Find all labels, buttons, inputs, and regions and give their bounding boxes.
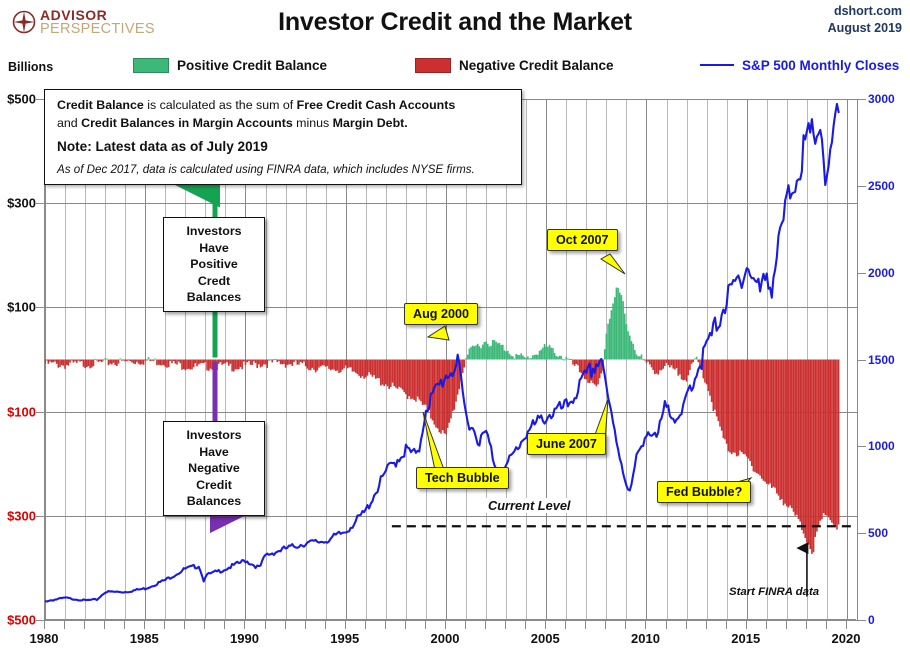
finra-methodology-note: As of Dec 2017, data is calculated using… xyxy=(57,163,511,176)
x-axis-tick xyxy=(786,620,787,629)
legend-swatch-negative xyxy=(415,58,451,73)
y-axis-left-tick-label: $100 xyxy=(7,300,36,315)
x-axis-tick-label: 2010 xyxy=(631,631,660,646)
x-axis-tick xyxy=(164,620,165,629)
x-axis-tick xyxy=(746,620,747,629)
x-axis-tick-label: 2020 xyxy=(832,631,861,646)
x-axis-tick xyxy=(686,620,687,629)
y-axis-left-tick-label: $300 xyxy=(7,196,36,211)
x-axis-tick xyxy=(565,620,566,629)
negative-box-line-2: Negative xyxy=(173,460,255,477)
y-axis-right-tick-label: 1000 xyxy=(868,439,895,453)
x-axis-tick-label: 2005 xyxy=(531,631,560,646)
negative-box-line-3: Credit Balances xyxy=(173,477,255,510)
note-text-3: minus xyxy=(293,116,333,130)
legend-swatch-sp500-line xyxy=(700,64,734,66)
term-margin-debt: Margin Debt. xyxy=(333,116,408,130)
callout-aug-2000: Aug 2000 xyxy=(404,303,478,325)
x-axis: 198019851990199520002005201020152020 xyxy=(44,619,856,659)
legend-swatch-positive xyxy=(133,58,169,73)
x-axis-tick xyxy=(505,620,506,629)
legend-label-sp500: S&P 500 Monthly Closes xyxy=(742,58,899,73)
x-axis-tick xyxy=(265,620,266,629)
x-axis-tick xyxy=(645,620,646,629)
x-axis-tick xyxy=(605,620,606,629)
x-axis-tick xyxy=(325,620,326,629)
negative-box-line-1: Investors Have xyxy=(173,427,255,460)
x-axis-tick xyxy=(545,620,546,629)
x-axis-tick xyxy=(525,620,526,629)
methodology-line-2: and Credit Balances in Margin Accounts m… xyxy=(57,115,511,133)
x-axis-tick-label: 1980 xyxy=(30,631,59,646)
legend-item-negative-credit-balance: Negative Credit Balance xyxy=(415,55,614,75)
x-axis-tick xyxy=(44,620,45,629)
tick-mark-right xyxy=(857,99,866,100)
x-axis-tick xyxy=(64,620,65,629)
tick-mark-right xyxy=(857,186,866,187)
x-axis-tick xyxy=(244,620,245,629)
y-axis-left-tick-label: $100 xyxy=(7,404,36,419)
x-axis-tick xyxy=(144,620,145,629)
x-axis-tick xyxy=(666,620,667,629)
note-text-1: is calculated as the sum of xyxy=(144,98,297,112)
x-axis-tick xyxy=(465,620,466,629)
y-axis-right-tick-label: 2000 xyxy=(868,266,895,280)
latest-data-note: Note: Latest data as of July 2019 xyxy=(57,139,511,154)
legend-item-sp500: S&P 500 Monthly Closes xyxy=(700,55,899,75)
x-axis-tick xyxy=(846,620,847,629)
x-axis-tick xyxy=(405,620,406,629)
y-axis-left-tick-label: $300 xyxy=(7,508,36,523)
x-axis-tick xyxy=(224,620,225,629)
tick-mark-left xyxy=(36,203,45,204)
term-free-credit-cash: Free Credit Cash Accounts xyxy=(297,98,456,112)
chart-legend: Positive Credit Balance Negative Credit … xyxy=(0,55,910,77)
positive-box-line-3: Credt Balances xyxy=(173,273,255,306)
x-axis-tick xyxy=(485,620,486,629)
y-axis-right-tick-label: 0 xyxy=(868,613,875,627)
x-axis-tick xyxy=(285,620,286,629)
x-axis-tick xyxy=(204,620,205,629)
x-axis-tick xyxy=(365,620,366,629)
tick-mark-right xyxy=(857,446,866,447)
positive-box-line-2: Positive xyxy=(173,256,255,273)
x-axis-tick xyxy=(826,620,827,629)
source-attribution: dshort.com August 2019 xyxy=(828,3,902,37)
methodology-line-1: Credit Balance is calculated as the sum … xyxy=(57,97,511,115)
x-axis-tick xyxy=(766,620,767,629)
callout-tail-aug-2000 xyxy=(428,326,449,340)
start-finra-data-label: Start FINRA data xyxy=(729,586,819,598)
x-axis-tick xyxy=(385,620,386,629)
x-axis-tick xyxy=(345,620,346,629)
x-axis-tick xyxy=(445,620,446,629)
x-axis-tick-label: 1995 xyxy=(330,631,359,646)
tick-mark-left xyxy=(36,516,45,517)
x-axis-tick-label: 2015 xyxy=(731,631,760,646)
x-axis-tick xyxy=(585,620,586,629)
legend-label-negative: Negative Credit Balance xyxy=(459,58,614,73)
x-axis-tick xyxy=(726,620,727,629)
tick-mark-right xyxy=(857,360,866,361)
chart-title: Investor Credit and the Market xyxy=(0,8,910,37)
x-axis-tick-label: 2000 xyxy=(431,631,460,646)
y-axis-right-tick-label: 500 xyxy=(868,526,888,540)
annotation-positive-balances-box: Investors Have Positive Credt Balances xyxy=(163,217,265,312)
positive-box-line-1: Investors Have xyxy=(173,223,255,256)
x-axis-tick xyxy=(706,620,707,629)
x-axis-tick xyxy=(184,620,185,629)
x-axis-tick xyxy=(124,620,125,629)
source-website: dshort.com xyxy=(828,3,902,20)
annotation-negative-balances-box: Investors Have Negative Credit Balances xyxy=(163,421,265,516)
term-credit-balance: Credit Balance xyxy=(57,98,144,112)
legend-item-positive-credit-balance: Positive Credit Balance xyxy=(133,55,327,75)
y-axis-left-tick-label: $500 xyxy=(7,613,36,628)
legend-label-positive: Positive Credit Balance xyxy=(177,58,327,73)
callout-fed-bubble: Fed Bubble? xyxy=(657,481,751,503)
y-axis-right-tick-label: 1500 xyxy=(868,353,895,367)
chart-page: ADVISOR PERSPECTIVES Investor Credit and… xyxy=(0,0,910,661)
tick-mark-left xyxy=(36,307,45,308)
callout-oct-2007: Oct 2007 xyxy=(547,229,618,251)
x-axis-tick-label: 1990 xyxy=(230,631,259,646)
x-axis-tick xyxy=(806,620,807,629)
term-credit-balances-margin: Credit Balances in Margin Accounts xyxy=(81,116,293,130)
tick-mark-right xyxy=(857,620,866,621)
callout-tail-oct-2007 xyxy=(601,254,625,274)
x-axis-tick xyxy=(104,620,105,629)
x-axis-tick xyxy=(625,620,626,629)
note-text-2: and xyxy=(57,116,81,130)
tick-mark-left xyxy=(36,412,45,413)
source-date: August 2019 xyxy=(828,20,902,37)
y-axis-left-tick-label: $500 xyxy=(7,92,36,107)
y-axis-right-tick-label: 2500 xyxy=(868,179,895,193)
x-axis-tick xyxy=(425,620,426,629)
methodology-note-box: Credit Balance is calculated as the sum … xyxy=(44,89,522,185)
x-axis-tick xyxy=(84,620,85,629)
x-axis-line xyxy=(44,619,856,620)
x-axis-tick xyxy=(305,620,306,629)
y-axis-units-label: Billions xyxy=(8,60,53,74)
x-axis-tick-label: 1985 xyxy=(130,631,159,646)
callout-june-2007: June 2007 xyxy=(527,433,606,455)
y-axis-right-tick-label: 3000 xyxy=(868,92,895,106)
current-level-label: Current Level xyxy=(484,498,575,513)
tick-mark-right xyxy=(857,533,866,534)
tick-mark-right xyxy=(857,273,866,274)
callout-tech-bubble: Tech Bubble xyxy=(416,467,509,489)
